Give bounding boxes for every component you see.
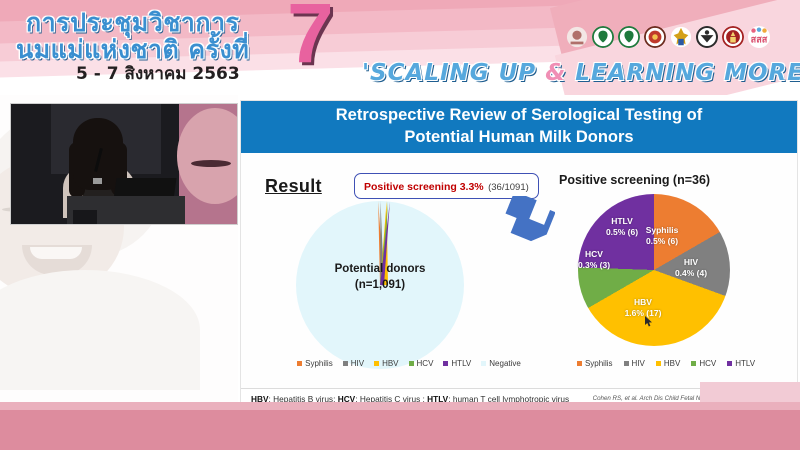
pie-label-hcv-value: 0.3% (3) <box>571 260 617 271</box>
podium-panel <box>73 210 97 224</box>
potential-donors-label-line2: (n=1,091) <box>328 277 432 293</box>
logo-thai-breastfeeding-green-2-icon <box>618 26 640 48</box>
presentation-slide: Retrospective Review of Serological Test… <box>240 100 798 412</box>
positive-screening-chart-title: Positive screening (n=36) <box>559 173 710 187</box>
legend2-label-htlv: HTLV <box>735 359 755 368</box>
legend2-item-hiv: HIV <box>624 359 645 368</box>
legend-label-hiv: HIV <box>351 359 364 368</box>
legend-potential-donors: Syphilis HIV HBV HCV HTLV Negative <box>271 359 547 368</box>
pie-label-htlv-name: HTLV <box>611 216 633 226</box>
legend2-label-hcv: HCV <box>699 359 716 368</box>
conference-edition-number: 7 <box>287 0 334 75</box>
legend2-item-hbv: HBV <box>656 359 680 368</box>
logo-royal-crest-icon <box>670 26 692 48</box>
pie-label-hiv: HIV 0.4% (4) <box>665 257 717 279</box>
slide-title-line1: Retrospective Review of Serological Test… <box>336 105 702 127</box>
conference-date: 5 - 7 สิงหาคม 2563 <box>76 60 240 87</box>
legend2-label-hiv: HIV <box>632 359 645 368</box>
legend-item-hbv: HBV <box>374 359 398 368</box>
legend-item-hiv: HIV <box>343 359 364 368</box>
legend-item-negative: Negative <box>481 359 521 368</box>
legend-label-negative: Negative <box>489 359 521 368</box>
speaker-badge <box>93 178 102 184</box>
bottom-pink-banner <box>0 410 800 450</box>
presentation-screenshot: การประชุมวิชาการ นมแม่แห่งชาติ ครั้งที่ … <box>0 0 800 450</box>
pie-label-hbv-name: HBV <box>634 297 652 307</box>
screen-baby-eye <box>191 160 231 167</box>
callout-detail-text: (36/1091) <box>488 182 529 193</box>
logo-ministry-public-health-icon <box>696 26 718 48</box>
tagline-ampersand: & <box>545 60 566 86</box>
logo-garuda-red-icon <box>722 26 744 48</box>
pie-label-hiv-value: 0.4% (4) <box>665 268 717 279</box>
legend-label-hbv: HBV <box>382 359 398 368</box>
mouse-cursor-icon <box>645 316 653 327</box>
bottom-pink-strip <box>0 402 800 410</box>
svg-text:สสส: สสส <box>751 35 768 46</box>
tagline-part2: LEARNING MORE' <box>566 60 800 86</box>
tagline-part1: 'SCALING UP <box>362 60 545 86</box>
slide-title: Retrospective Review of Serological Test… <box>241 101 797 153</box>
slide-title-line2: Potential Human Milk Donors <box>404 127 633 149</box>
callout-highlight-text: Positive screening 3.3% <box>364 181 484 193</box>
legend-item-htlv: HTLV <box>443 359 471 368</box>
sponsor-logo-row: สสส <box>566 26 770 48</box>
pie-label-syphilis-name: Syphilis <box>646 225 679 235</box>
legend-positive-screening: Syphilis HIV HBV HCV HTLV <box>541 359 791 368</box>
pie-label-hcv: HCV 0.3% (3) <box>571 249 617 271</box>
logo-thaihealth-sss-icon: สสส <box>748 26 770 48</box>
logo-foundation-seal-icon <box>566 26 588 48</box>
conference-header-banner: การประชุมวิชาการ นมแม่แห่งชาติ ครั้งที่ … <box>0 0 800 95</box>
potential-donors-center-label: Potential donors (n=1,091) <box>328 261 432 294</box>
logo-royal-college-orange-icon <box>644 26 666 48</box>
legend2-item-syphilis: Syphilis <box>577 359 613 368</box>
pie-label-syphilis-value: 0.5% (6) <box>633 236 691 247</box>
legend-item-syphilis: Syphilis <box>297 359 333 368</box>
logo-thai-breastfeeding-green-1-icon <box>592 26 614 48</box>
pie-label-syphilis: Syphilis 0.5% (6) <box>633 225 691 247</box>
pie-label-hbv-value: 1.6% (17) <box>613 308 673 319</box>
conference-tagline: 'SCALING UP & LEARNING MORE' <box>362 60 800 86</box>
pie-label-hbv: HBV 1.6% (17) <box>613 297 673 319</box>
potential-donors-label-line1: Potential donors <box>328 261 432 277</box>
legend2-item-hcv: HCV <box>691 359 716 368</box>
pie-label-hcv-name: HCV <box>585 249 603 259</box>
pie-label-hiv-name: HIV <box>684 257 698 267</box>
speaker-video-thumbnail[interactable] <box>10 103 238 225</box>
potential-donors-pie-chart: Potential donors (n=1,091) <box>296 201 464 369</box>
legend-label-syphilis: Syphilis <box>305 359 333 368</box>
blue-arrow-icon <box>499 196 555 242</box>
legend2-item-htlv: HTLV <box>727 359 755 368</box>
legend2-label-syphilis: Syphilis <box>585 359 613 368</box>
legend-label-htlv: HTLV <box>451 359 471 368</box>
legend-item-hcv: HCV <box>409 359 434 368</box>
result-heading: Result <box>265 176 322 197</box>
legend2-label-hbv: HBV <box>664 359 680 368</box>
legend-label-hcv: HCV <box>417 359 434 368</box>
